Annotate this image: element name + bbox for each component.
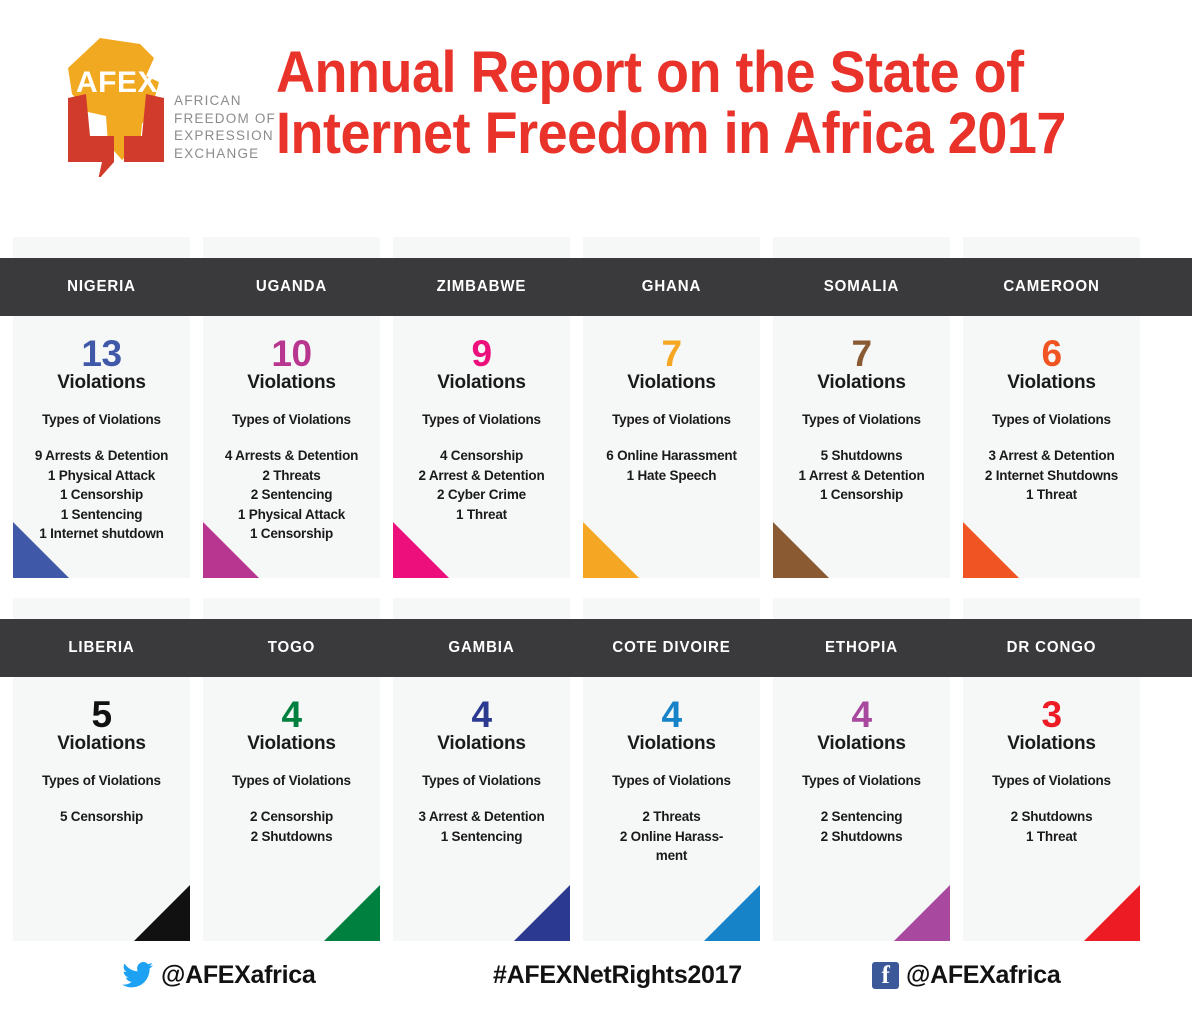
card-body: 13 Violations Types of Violations 9 Arre… xyxy=(13,316,190,544)
violation-type-item: 1 Threat xyxy=(968,827,1135,847)
violation-types-list: 9 Arrests & Detention 1 Physical Attack … xyxy=(13,446,190,544)
country-name: SOMALIA xyxy=(776,258,948,316)
country-card-dr-congo[interactable]: DR CONGO 3 Violations Types of Violation… xyxy=(963,598,1140,941)
country-name: GAMBIA xyxy=(396,619,568,677)
violation-type-item: 1 Physical Attack xyxy=(18,466,185,486)
violation-type-item: 1 Threat xyxy=(398,505,565,525)
violation-count: 5 xyxy=(13,696,190,734)
violation-type-item: 2 Shutdowns xyxy=(968,807,1135,827)
violation-type-item: 1 Sentencing xyxy=(398,827,565,847)
country-name: NIGERIA xyxy=(16,258,188,316)
violation-type-item: 3 Arrest & Detention xyxy=(398,807,565,827)
corner-triangle xyxy=(894,885,950,941)
corner-triangle xyxy=(963,522,1019,578)
country-name: GHANA xyxy=(586,258,758,316)
card-body: 7 Violations Types of Violations 5 Shutd… xyxy=(773,316,950,505)
corner-triangle xyxy=(514,885,570,941)
violation-types-list: 5 Shutdowns 1 Arrest & Detention 1 Censo… xyxy=(773,446,950,505)
violation-type-item: 1 Internet shutdown xyxy=(18,524,185,544)
violations-label: Violations xyxy=(393,733,570,754)
country-name: CAMEROON xyxy=(966,258,1138,316)
country-row-1: NIGERIA 13 Violations Types of Violation… xyxy=(0,237,1200,578)
violation-type-item: 9 Arrests & Detention xyxy=(18,446,185,466)
violation-count: 6 xyxy=(963,335,1140,373)
country-name: TOGO xyxy=(206,619,378,677)
country-card-zimbabwe[interactable]: ZIMBABWE 9 Violations Types of Violation… xyxy=(393,237,570,578)
types-heading: Types of Violations xyxy=(583,773,760,788)
card-body: 4 Violations Types of Violations 3 Arres… xyxy=(393,677,570,846)
violation-types-list: 4 Censorship 2 Arrest & Detention 2 Cybe… xyxy=(393,446,570,524)
violations-label: Violations xyxy=(13,733,190,754)
violation-type-item: 2 Sentencing xyxy=(208,485,375,505)
violation-count: 4 xyxy=(773,696,950,734)
violation-type-item: ment xyxy=(588,846,755,866)
country-card-gambia[interactable]: GAMBIA 4 Violations Types of Violations … xyxy=(393,598,570,941)
afex-logo-wordmark: AFRICAN FREEDOM OF EXPRESSION EXCHANGE xyxy=(174,92,276,162)
types-heading: Types of Violations xyxy=(203,412,380,427)
types-heading: Types of Violations xyxy=(963,412,1140,427)
afex-logo: AFEX AFRICAN FREEDOM OF EXPRESSION EXCHA… xyxy=(62,30,262,180)
violation-type-item: 2 Cyber Crime xyxy=(398,485,565,505)
violation-type-item: 2 Threats xyxy=(208,466,375,486)
country-card-somalia[interactable]: SOMALIA 7 Violations Types of Violations… xyxy=(773,237,950,578)
violation-type-item: 6 Online Harassment xyxy=(588,446,755,466)
corner-triangle xyxy=(1084,885,1140,941)
violation-type-item: 1 Censorship xyxy=(208,524,375,544)
violation-type-item: 1 Censorship xyxy=(778,485,945,505)
types-heading: Types of Violations xyxy=(393,773,570,788)
violations-label: Violations xyxy=(583,733,760,754)
card-body: 7 Violations Types of Violations 6 Onlin… xyxy=(583,316,760,485)
types-heading: Types of Violations xyxy=(203,773,380,788)
country-cards-row-2: LIBERIA 5 Violations Types of Violations… xyxy=(0,598,1200,941)
country-card-uganda[interactable]: UGANDA 10 Violations Types of Violations… xyxy=(203,237,380,578)
violation-type-item: 5 Shutdowns xyxy=(778,446,945,466)
violation-count: 9 xyxy=(393,335,570,373)
violation-count: 13 xyxy=(13,335,190,373)
violation-type-item: 2 Arrest & Detention xyxy=(398,466,565,486)
country-card-nigeria[interactable]: NIGERIA 13 Violations Types of Violation… xyxy=(13,237,190,578)
twitter-handle-link[interactable]: @AFEXafrica xyxy=(122,961,315,990)
campaign-hashtag-text: #AFEXNetRights2017 xyxy=(493,961,742,990)
violation-count: 10 xyxy=(203,335,380,373)
card-body: 9 Violations Types of Violations 4 Censo… xyxy=(393,316,570,524)
violations-label: Violations xyxy=(13,372,190,393)
country-name: ETHOPIA xyxy=(776,619,948,677)
facebook-handle-link[interactable]: f @AFEXafrica xyxy=(872,961,1060,990)
country-row-2: LIBERIA 5 Violations Types of Violations… xyxy=(0,598,1200,941)
country-card-ethopia[interactable]: ETHOPIA 4 Violations Types of Violations… xyxy=(773,598,950,941)
page-title-line-1: Annual Report on the State of xyxy=(276,42,1104,103)
svg-text:AFEX: AFEX xyxy=(76,66,158,99)
violation-type-item: 1 Censorship xyxy=(18,485,185,505)
violation-count: 4 xyxy=(583,696,760,734)
corner-triangle xyxy=(773,522,829,578)
twitter-icon xyxy=(122,962,154,989)
violation-type-item: 1 Arrest & Detention xyxy=(778,466,945,486)
corner-triangle xyxy=(134,885,190,941)
campaign-hashtag[interactable]: #AFEXNetRights2017 xyxy=(493,961,742,990)
violations-label: Violations xyxy=(963,372,1140,393)
violation-types-list: 3 Arrest & Detention 1 Sentencing xyxy=(393,807,570,846)
violation-types-list: 4 Arrests & Detention 2 Threats 2 Senten… xyxy=(203,446,380,544)
violation-type-item: 2 Threats xyxy=(588,807,755,827)
page-title: Annual Report on the State of Internet F… xyxy=(276,42,1104,164)
violation-count: 4 xyxy=(393,696,570,734)
country-card-cameroon[interactable]: CAMEROON 6 Violations Types of Violation… xyxy=(963,237,1140,578)
violation-type-item: 2 Shutdowns xyxy=(208,827,375,847)
types-heading: Types of Violations xyxy=(773,412,950,427)
corner-triangle xyxy=(583,522,639,578)
corner-triangle xyxy=(324,885,380,941)
violation-types-list: 3 Arrest & Detention 2 Internet Shutdown… xyxy=(963,446,1140,505)
violation-count: 7 xyxy=(583,335,760,373)
violation-types-list: 2 Sentencing 2 Shutdowns xyxy=(773,807,950,846)
violation-type-item: 2 Sentencing xyxy=(778,807,945,827)
corner-triangle xyxy=(393,522,449,578)
violation-type-item: 5 Censorship xyxy=(18,807,185,827)
facebook-icon: f xyxy=(872,962,899,989)
violations-label: Violations xyxy=(773,733,950,754)
country-name: LIBERIA xyxy=(16,619,188,677)
violation-type-item: 4 Arrests & Detention xyxy=(208,446,375,466)
facebook-handle-text: @AFEXafrica xyxy=(906,961,1060,990)
afex-logo-mark-icon: AFEX xyxy=(62,32,182,177)
violation-type-item: 2 Internet Shutdowns xyxy=(968,466,1135,486)
card-body: 3 Violations Types of Violations 2 Shutd… xyxy=(963,677,1140,846)
violation-types-list: 2 Shutdowns 1 Threat xyxy=(963,807,1140,846)
types-heading: Types of Violations xyxy=(13,773,190,788)
page-footer: @AFEXafrica #AFEXNetRights2017 f @AFEXaf… xyxy=(0,955,1200,1020)
violation-type-item: 3 Arrest & Detention xyxy=(968,446,1135,466)
card-body: 6 Violations Types of Violations 3 Arres… xyxy=(963,316,1140,505)
corner-triangle xyxy=(704,885,760,941)
country-card-togo[interactable]: TOGO 4 Violations Types of Violations 2 … xyxy=(203,598,380,941)
country-name: ZIMBABWE xyxy=(396,258,568,316)
card-body: 4 Violations Types of Violations 2 Censo… xyxy=(203,677,380,846)
violations-label: Violations xyxy=(393,372,570,393)
country-name: COTE DIVOIRE xyxy=(586,619,758,677)
country-card-cote-divoire[interactable]: COTE DIVOIRE 4 Violations Types of Viola… xyxy=(583,598,760,941)
violations-label: Violations xyxy=(203,733,380,754)
page-title-line-2: Internet Freedom in Africa 2017 xyxy=(276,103,1104,164)
violation-type-item: 1 Physical Attack xyxy=(208,505,375,525)
card-body: 10 Violations Types of Violations 4 Arre… xyxy=(203,316,380,544)
violation-count: 3 xyxy=(963,696,1140,734)
violation-types-list: 6 Online Harassment 1 Hate Speech xyxy=(583,446,760,485)
violations-label: Violations xyxy=(583,372,760,393)
country-card-liberia[interactable]: LIBERIA 5 Violations Types of Violations… xyxy=(13,598,190,941)
violation-types-list: 2 Threats 2 Online Harass- ment xyxy=(583,807,760,866)
violations-label: Violations xyxy=(203,372,380,393)
violation-type-item: 4 Censorship xyxy=(398,446,565,466)
violation-types-list: 2 Censorship 2 Shutdowns xyxy=(203,807,380,846)
violation-count: 7 xyxy=(773,335,950,373)
page-header: AFEX AFRICAN FREEDOM OF EXPRESSION EXCHA… xyxy=(0,0,1200,225)
violation-type-item: 1 Hate Speech xyxy=(588,466,755,486)
violation-type-item: 2 Shutdowns xyxy=(778,827,945,847)
violation-type-item: 2 Censorship xyxy=(208,807,375,827)
card-body: 4 Violations Types of Violations 2 Sente… xyxy=(773,677,950,846)
types-heading: Types of Violations xyxy=(773,773,950,788)
country-cards-row-1: NIGERIA 13 Violations Types of Violation… xyxy=(0,237,1200,578)
types-heading: Types of Violations xyxy=(13,412,190,427)
violation-count: 4 xyxy=(203,696,380,734)
violations-label: Violations xyxy=(773,372,950,393)
country-card-ghana[interactable]: GHANA 7 Violations Types of Violations 6… xyxy=(583,237,760,578)
types-heading: Types of Violations xyxy=(393,412,570,427)
card-body: 4 Violations Types of Violations 2 Threa… xyxy=(583,677,760,866)
card-body: 5 Violations Types of Violations 5 Censo… xyxy=(13,677,190,827)
types-heading: Types of Violations xyxy=(583,412,760,427)
country-name: DR CONGO xyxy=(966,619,1138,677)
twitter-handle-text: @AFEXafrica xyxy=(161,961,315,990)
violation-type-item: 2 Online Harass- xyxy=(588,827,755,847)
country-name: UGANDA xyxy=(206,258,378,316)
violation-type-item: 1 Sentencing xyxy=(18,505,185,525)
violation-types-list: 5 Censorship xyxy=(13,807,190,827)
types-heading: Types of Violations xyxy=(963,773,1140,788)
violations-label: Violations xyxy=(963,733,1140,754)
violation-type-item: 1 Threat xyxy=(968,485,1135,505)
